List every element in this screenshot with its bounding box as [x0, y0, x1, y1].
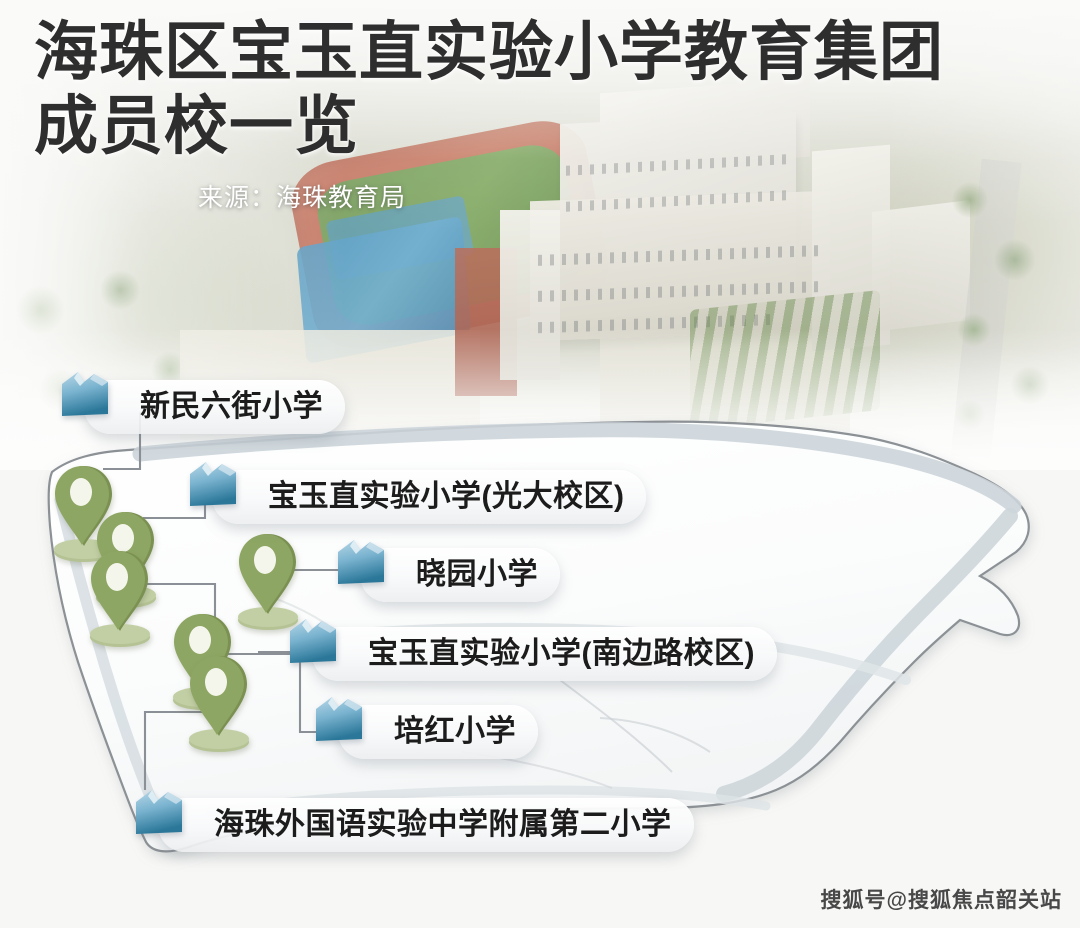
- bookmark-icon: [182, 456, 244, 514]
- school-label-baoyuzhi-guangda[interactable]: 宝玉直实验小学(光大校区): [212, 470, 646, 524]
- bookmark-icon: [308, 691, 370, 749]
- school-label-text: 晓园小学: [416, 560, 538, 590]
- school-label-text: 宝玉直实验小学(光大校区): [268, 482, 624, 512]
- bookmark-icon: [330, 534, 392, 592]
- school-label-xinmin-liujie[interactable]: 新民六街小学: [84, 380, 345, 434]
- school-label-text: 宝玉直实验小学(南边路校区): [368, 639, 755, 669]
- map-pin-haizhu-waiguoyu[interactable]: [183, 650, 255, 754]
- page-title: 海珠区宝玉直实验小学教育集团 成员校一览 来源：海珠教育局: [34, 16, 944, 214]
- map-pin-baoyuzhi-nanbianlu[interactable]: [84, 545, 156, 649]
- school-label-xiaoyuan[interactable]: 晓园小学: [360, 548, 560, 602]
- infographic-canvas: 海珠区宝玉直实验小学教育集团 成员校一览 来源：海珠教育局: [0, 0, 1080, 928]
- school-label-text: 海珠外国语实验中学附属第二小学: [214, 810, 672, 840]
- school-label-peihong[interactable]: 培红小学: [338, 705, 538, 759]
- bookmark-icon: [54, 366, 116, 424]
- watermark: 搜狐号@搜狐焦点韶关站: [821, 884, 1062, 914]
- school-label-text: 新民六街小学: [140, 392, 323, 422]
- title-line-2: 成员校一览: [34, 90, 944, 164]
- school-label-text: 培红小学: [394, 717, 516, 747]
- school-label-baoyuzhi-nanbianlu[interactable]: 宝玉直实验小学(南边路校区): [312, 627, 777, 681]
- school-label-haizhu-waiguoyu[interactable]: 海珠外国语实验中学附属第二小学: [158, 798, 694, 852]
- bookmark-icon: [282, 613, 344, 671]
- source-subtitle: 来源：海珠教育局: [198, 178, 944, 214]
- bookmark-icon: [128, 784, 190, 842]
- title-line-1: 海珠区宝玉直实验小学教育集团: [34, 16, 944, 90]
